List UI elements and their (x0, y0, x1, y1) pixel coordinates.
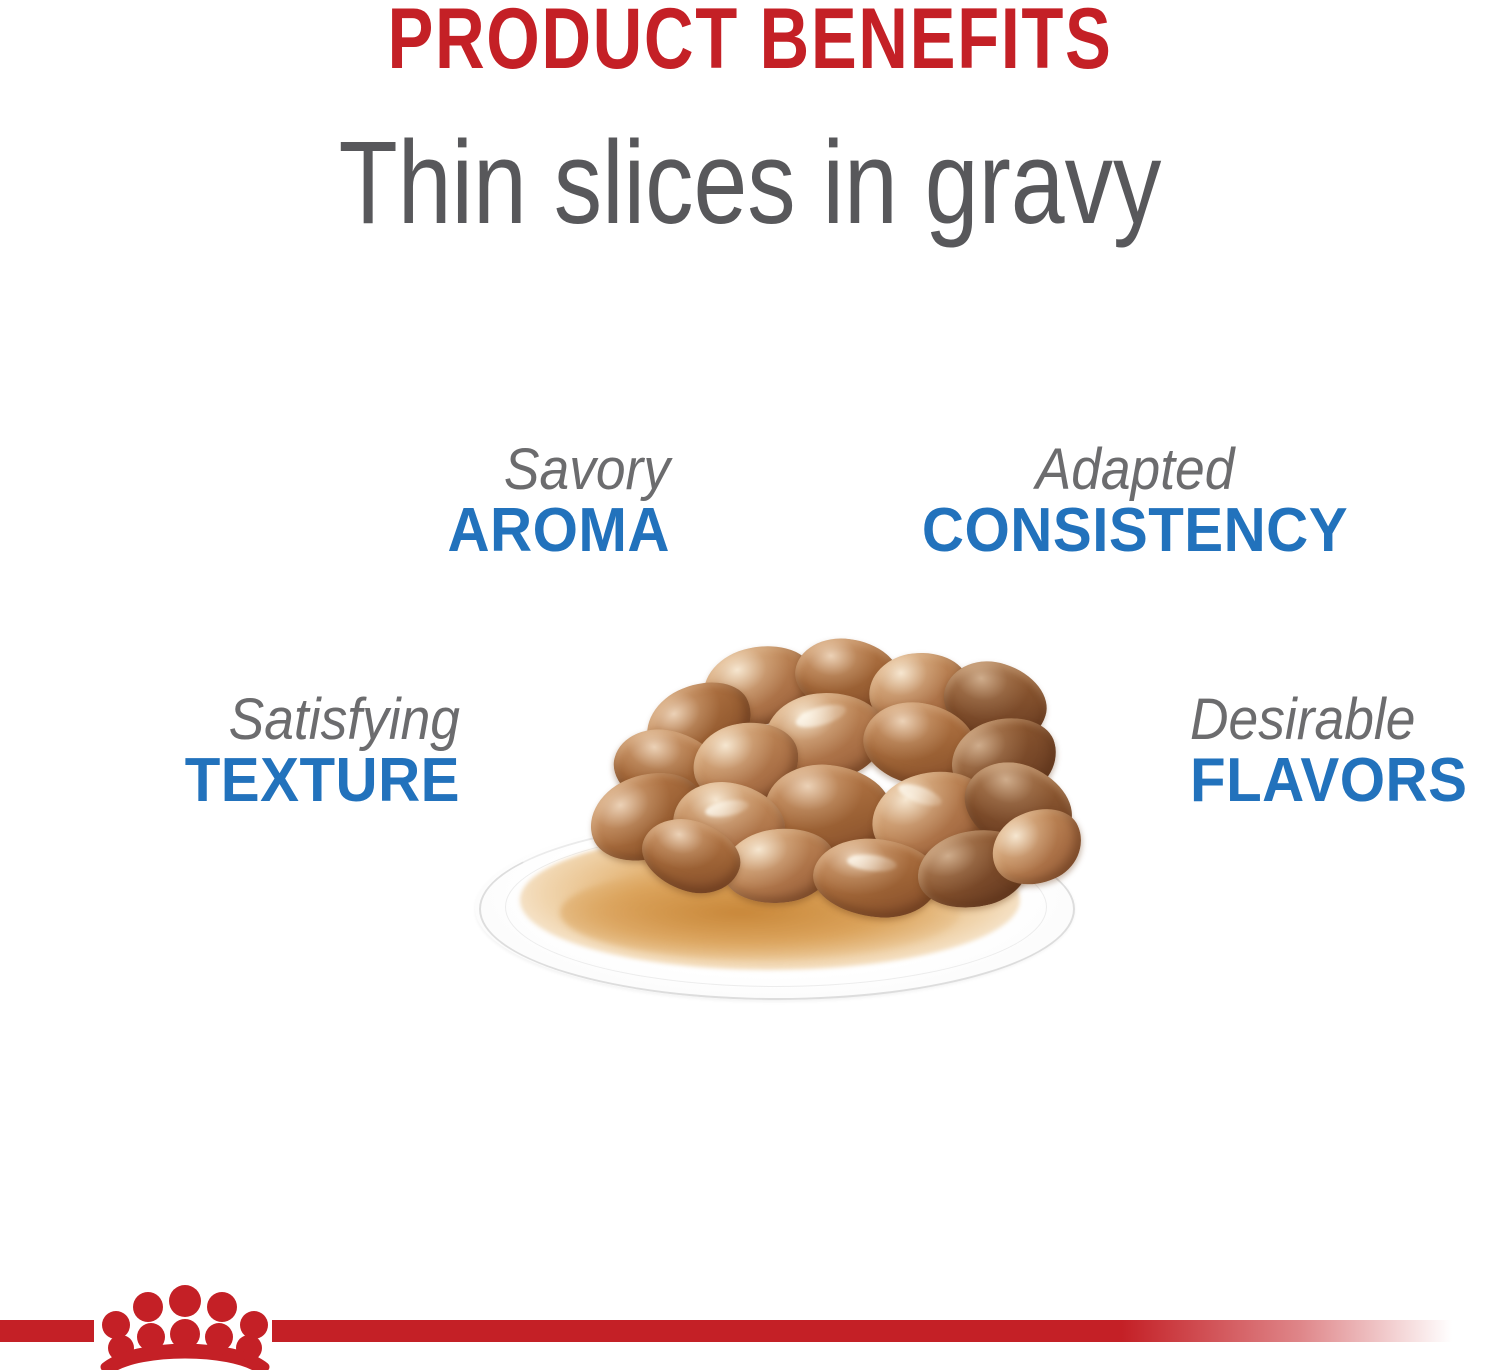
benefit-flavors-lead: Desirable (1190, 690, 1494, 749)
benefit-aroma: Savory AROMA (150, 440, 670, 562)
benefit-consistency-key: CONSISTENCY (895, 499, 1374, 562)
divider-bar-right (272, 1320, 1452, 1342)
benefit-consistency-lead: Adapted (900, 440, 1369, 499)
benefit-texture-key: TEXTURE (46, 749, 460, 812)
product-image (465, 615, 1085, 1015)
benefit-flavors-key: FLAVORS (1190, 749, 1500, 812)
page-title: PRODUCT BENEFITS (150, 0, 1350, 84)
benefit-consistency: Adapted CONSISTENCY (880, 440, 1390, 562)
benefit-aroma-lead: Savory (192, 440, 670, 499)
divider-bar-left (0, 1320, 94, 1342)
product-benefits-panel: PRODUCT BENEFITS Thin slices in gravy Sa… (0, 0, 1500, 1370)
benefit-texture-lead: Satisfying (55, 690, 460, 749)
benefit-aroma-key: AROMA (181, 499, 670, 562)
benefit-flavors: Desirable FLAVORS (1190, 690, 1500, 812)
page-subtitle: Thin slices in gravy (135, 122, 1365, 246)
royal-canin-crown-logo (95, 1284, 275, 1370)
benefit-texture: Satisfying TEXTURE (20, 690, 460, 812)
